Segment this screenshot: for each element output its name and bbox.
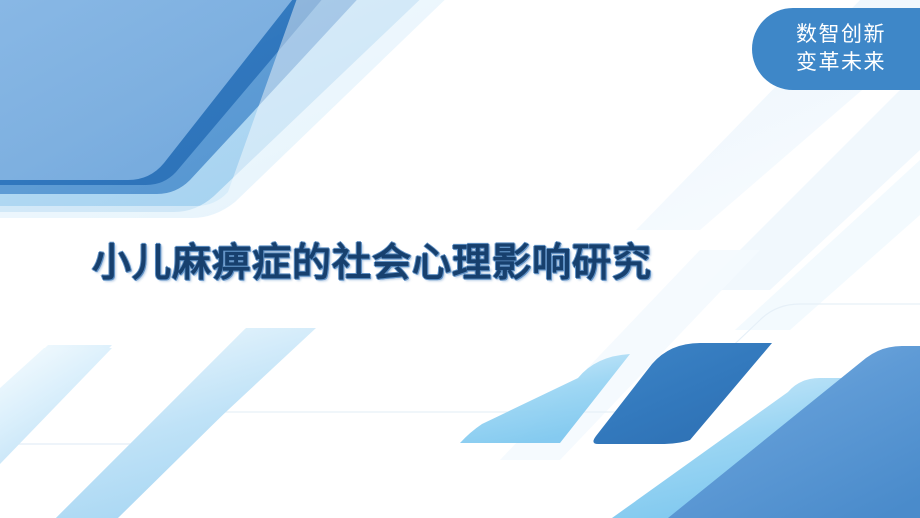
page-title: 小儿麻痹症的社会心理影响研究 [92, 232, 692, 288]
badge-line-2: 变革未来 [796, 49, 886, 77]
slide-canvas: 数智创新 变革未来 小儿麻痹症的社会心理影响研究 [0, 0, 920, 518]
decorative-badge: 数智创新 变革未来 [752, 8, 920, 90]
badge-line-1: 数智创新 [796, 21, 886, 49]
